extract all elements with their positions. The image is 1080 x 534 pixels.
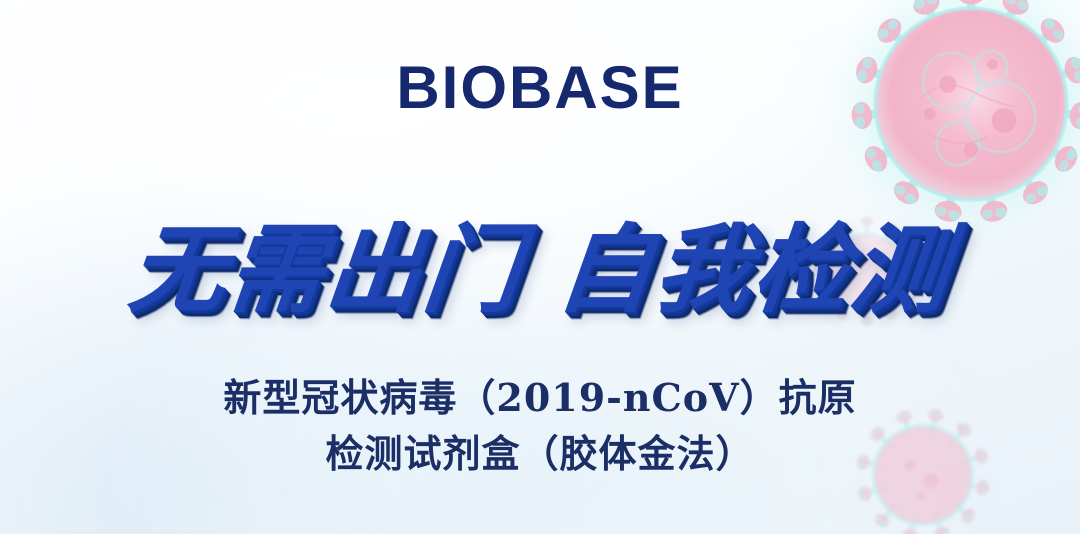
headline-text: 无需出门 自我检测 bbox=[125, 222, 955, 318]
brand-logo: BIOBASE bbox=[0, 58, 1080, 118]
promotional-banner: BIOBASE 无需出门 自我检测 新型冠状病毒（2019-nCoV）抗原 检测… bbox=[0, 0, 1080, 534]
subtitle-line-2: 检测试剂盒（胶体金法） bbox=[0, 426, 1080, 482]
subtitle-line-1: 新型冠状病毒（2019-nCoV）抗原 bbox=[0, 370, 1080, 426]
brand-logo-text: BIOBASE bbox=[396, 58, 683, 118]
headline: 无需出门 自我检测 bbox=[0, 222, 1080, 318]
subtitle: 新型冠状病毒（2019-nCoV）抗原 检测试剂盒（胶体金法） bbox=[0, 370, 1080, 482]
